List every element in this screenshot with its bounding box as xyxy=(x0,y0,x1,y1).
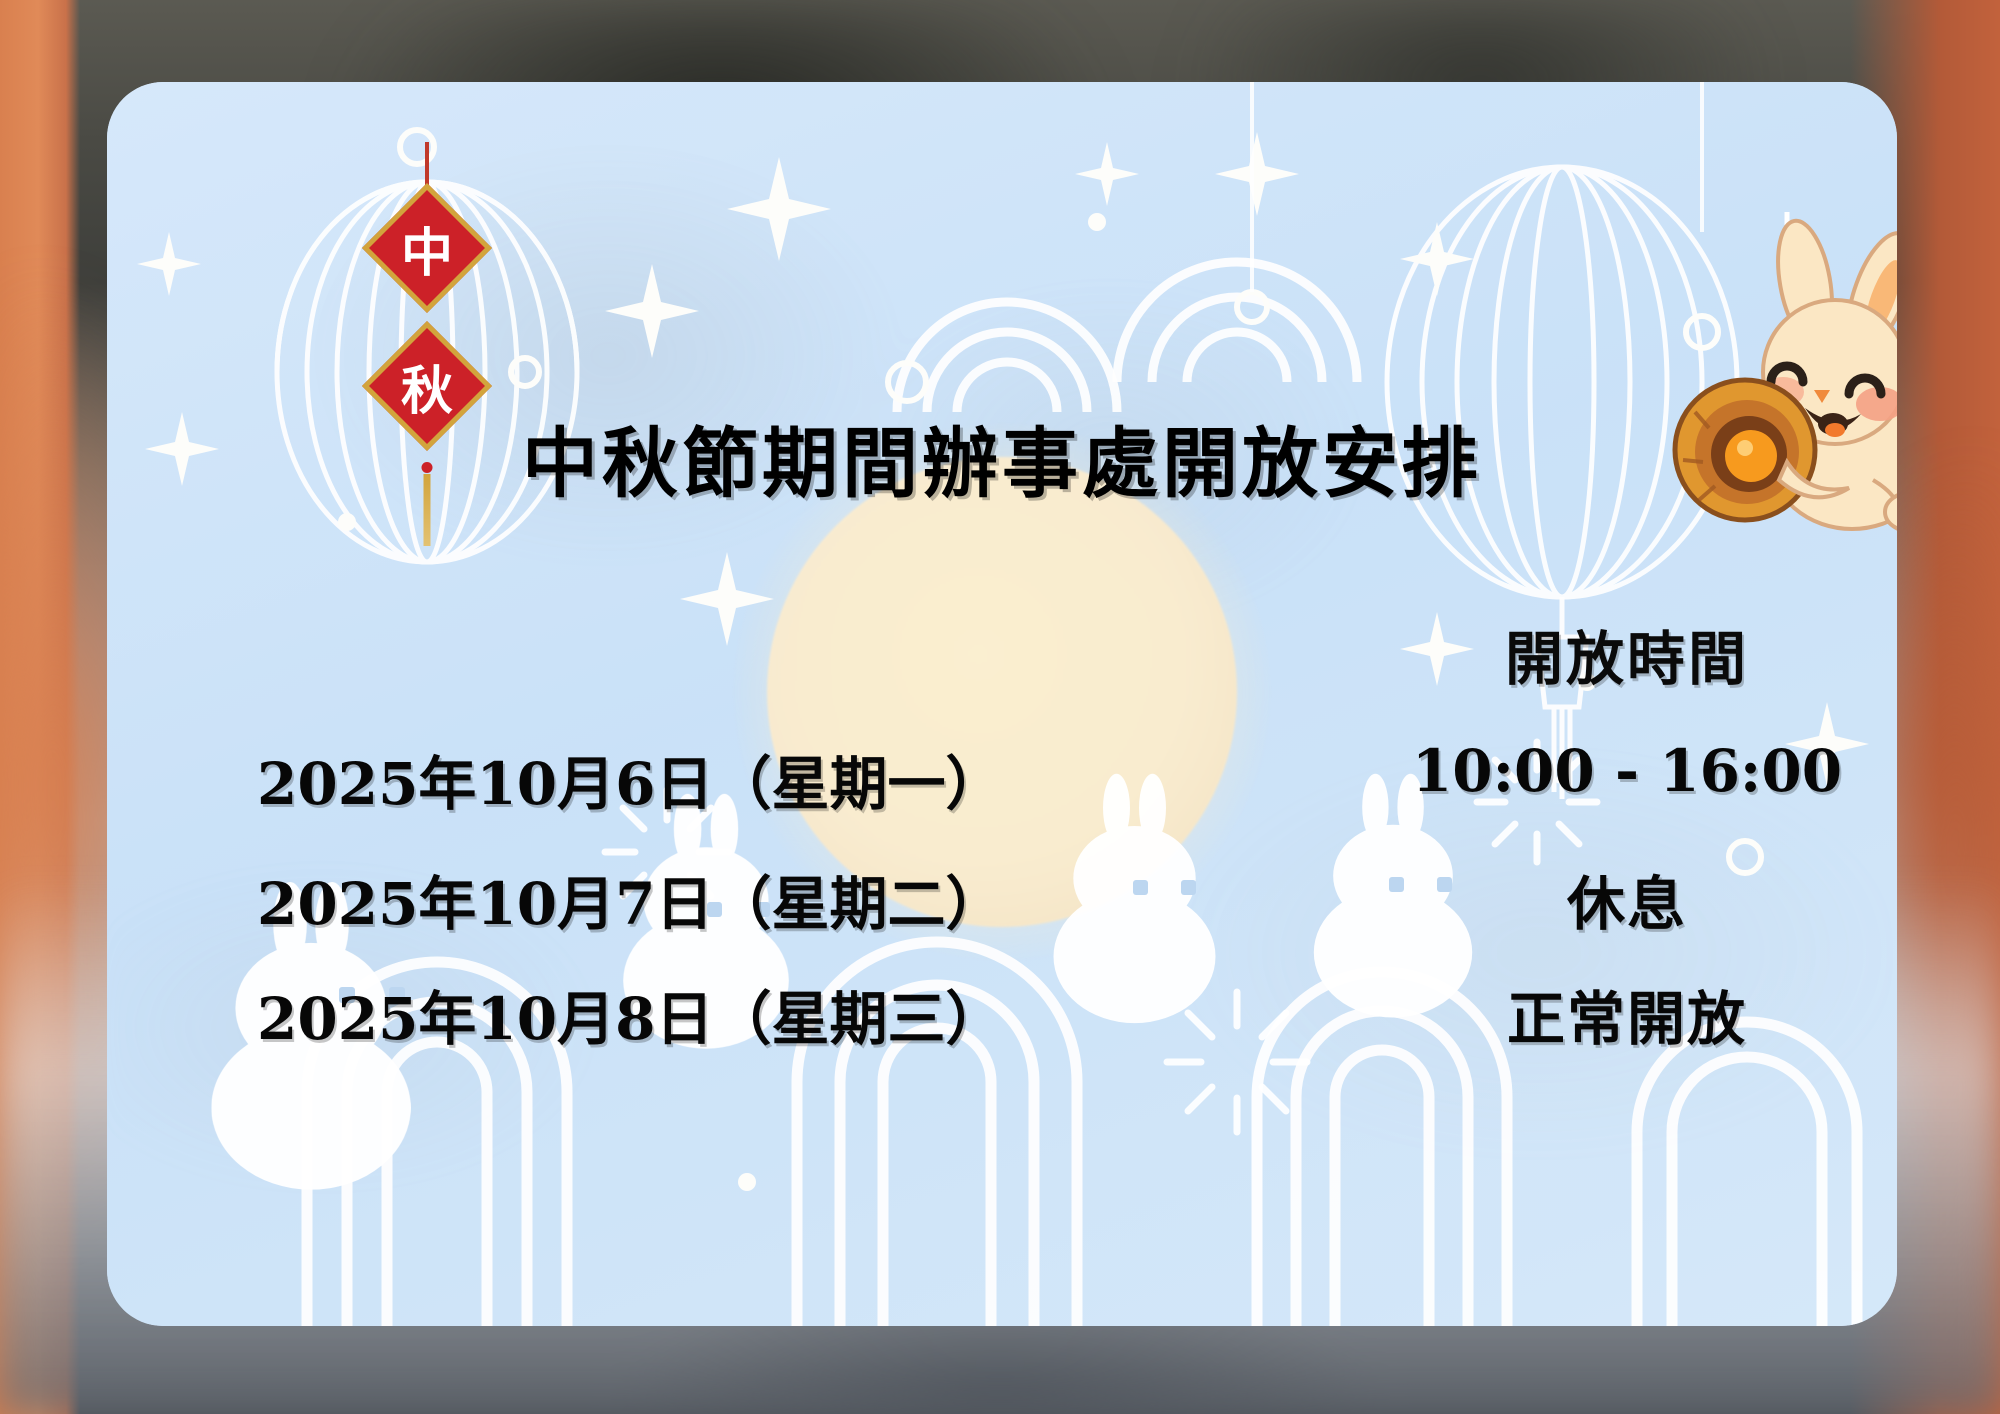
schedule-row: 2025年10月6日（星期一） 10:00 - 16:00 xyxy=(107,737,1897,847)
schedule-status: 正常開放 xyxy=(1307,972,1897,1056)
poster-content: 中秋節期間辦事處開放安排 開放時間 2025年10月6日（星期一） 10:00 … xyxy=(107,82,1897,1326)
schedule-row: 2025年10月8日（星期三） 正常開放 xyxy=(107,972,1897,1082)
schedule-date: 2025年10月8日（星期三） xyxy=(257,972,1057,1056)
hours-column-header: 開放時間 xyxy=(1307,612,1897,696)
page-title: 中秋節期間辦事處開放安排 xyxy=(107,402,1897,512)
schedule-row: 2025年10月7日（星期二） 休息 xyxy=(107,857,1897,967)
schedule-status: 休息 xyxy=(1307,857,1897,941)
schedule-date: 2025年10月7日（星期二） xyxy=(257,857,1057,941)
schedule-status: 10:00 - 16:00 xyxy=(1307,737,1897,805)
schedule-date: 2025年10月6日（星期一） xyxy=(257,737,1057,821)
announcement-card: 中 秋 xyxy=(107,82,1897,1326)
